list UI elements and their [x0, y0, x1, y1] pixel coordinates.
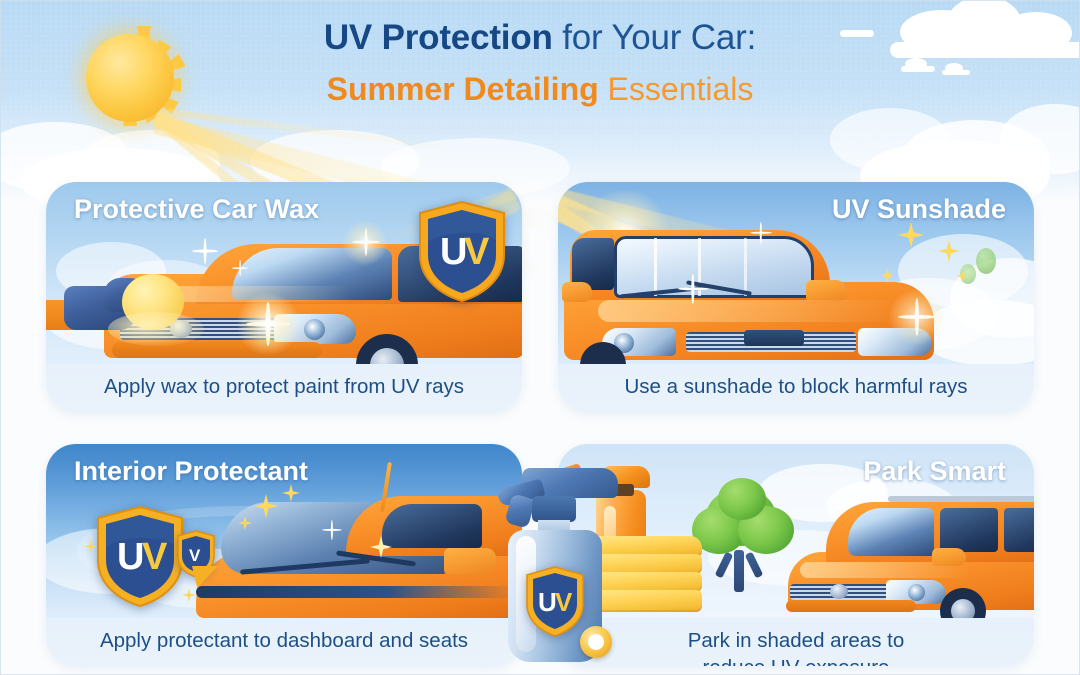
card-uv-sunshade[interactable]: UV Sunshade Use a sunshade to block harm…: [558, 182, 1034, 412]
title-line-1: UV Protection for Your Car:: [0, 14, 1080, 62]
card-2-caption-area: Use a sunshade to block harmful rays: [558, 364, 1034, 412]
uv-shield-icon: U V: [94, 504, 186, 610]
uv-shield-icon: U V: [416, 200, 508, 304]
flare-icon: [236, 292, 300, 356]
card-interior-protectant[interactable]: U V V Interior Protectant: [46, 444, 522, 666]
svg-text:V: V: [555, 587, 573, 617]
svg-text:V: V: [189, 546, 201, 565]
card-4-caption: Park in shaded areas to reduce UV exposu…: [688, 627, 905, 666]
card-4-title: Park Smart: [863, 456, 1006, 487]
subtitle-bold-summer-detailing: Summer Detailing: [327, 71, 599, 107]
card-3-caption-area: Apply protectant to dashboard and seats: [46, 618, 522, 666]
flare-icon: [342, 220, 388, 266]
title-line-2: Summer Detailing Essentials: [0, 66, 1080, 112]
sparkle-icon: [322, 520, 342, 540]
card-4-caption-area: Park in shaded areas to reduce UV exposu…: [558, 618, 1034, 666]
sparkle-icon: [750, 222, 772, 244]
flare-icon: [888, 288, 946, 346]
subtitle-rest-essentials: Essentials: [599, 71, 754, 107]
card-1-caption-area: Apply wax to protect paint from UV rays: [46, 364, 522, 412]
card-4-image: Park Smart: [558, 444, 1034, 618]
sparkle-icon: [678, 274, 708, 304]
svg-text:U: U: [117, 536, 144, 578]
sparkle-icon: [232, 260, 248, 276]
card-2-image: UV Sunshade: [558, 182, 1034, 364]
title-rest-for-your-car: for Your Car:: [553, 18, 756, 57]
bottle-uv-shield-icon: U V: [524, 566, 586, 638]
card-1-image: U V Protective Car Wax: [46, 182, 522, 364]
card-protective-car-wax[interactable]: U V Protective Car Wax Apply wax to prot…: [46, 182, 522, 412]
card-2-title: UV Sunshade: [832, 194, 1006, 225]
sparkle-icon: [192, 238, 218, 264]
title-bold-uv-protection: UV Protection: [324, 18, 553, 57]
infographic-poster: UV Protection for Your Car: Summer Detai…: [0, 0, 1080, 675]
card-3-caption: Apply protectant to dashboard and seats: [100, 627, 468, 654]
poster-titles: UV Protection for Your Car: Summer Detai…: [0, 14, 1080, 112]
svg-text:V: V: [464, 231, 490, 273]
card-3-image: U V V Interior Protectant: [46, 444, 522, 618]
card-park-smart[interactable]: Park Smart Park in shaded areas to reduc…: [558, 444, 1034, 666]
svg-text:V: V: [142, 536, 168, 578]
svg-text:U: U: [538, 587, 557, 617]
card-1-title: Protective Car Wax: [74, 194, 319, 225]
card-1-caption: Apply wax to protect paint from UV rays: [104, 373, 464, 400]
uv-spray-bottle-icon: U V: [494, 462, 626, 675]
card-3-title: Interior Protectant: [74, 456, 308, 487]
card-2-caption: Use a sunshade to block harmful rays: [625, 373, 968, 400]
